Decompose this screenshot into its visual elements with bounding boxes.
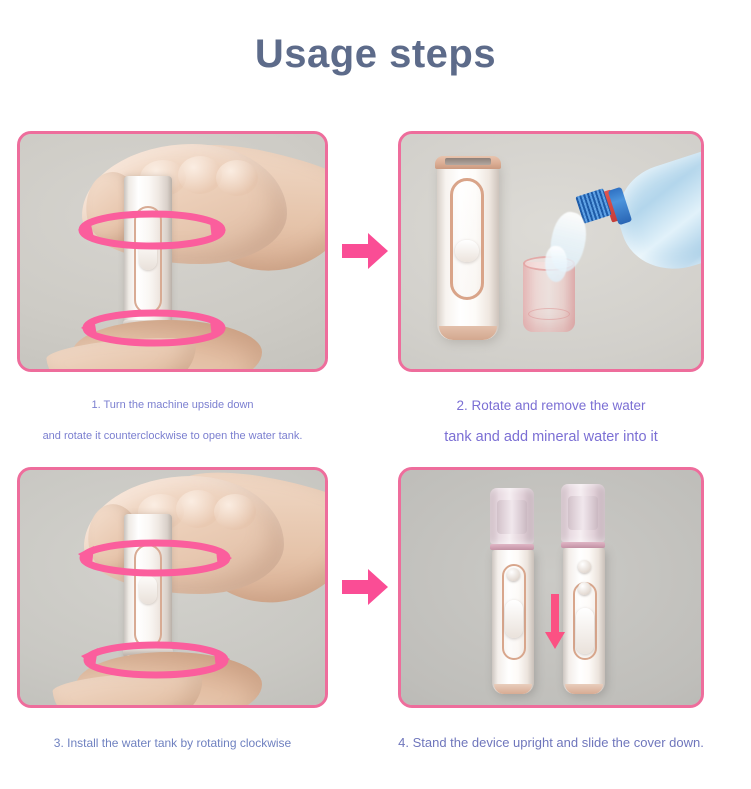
- step-2-caption-line2: tank and add mineral water into it: [398, 429, 704, 445]
- rotation-arrow-top: [72, 206, 232, 252]
- device-oval-knob: [455, 240, 479, 262]
- step-4-photo: [401, 470, 701, 705]
- device-button: [578, 560, 591, 573]
- rotation-arrow-top: [72, 534, 238, 580]
- device-slider-knob: [505, 600, 523, 638]
- step-3-panel: [17, 467, 328, 708]
- device-cap-inner: [568, 496, 598, 530]
- device-base: [565, 684, 603, 694]
- knuckle: [214, 494, 256, 530]
- step-1-panel: [17, 131, 328, 372]
- step-1-caption-line2: and rotate it counterclockwise to open t…: [7, 430, 338, 442]
- step-3-caption-line1: 3. Install the water tank by rotating cl…: [17, 736, 328, 750]
- water-tank-cup-inner-rim: [528, 308, 570, 320]
- step-3-photo: [20, 470, 325, 705]
- rotation-arrow-bottom: [76, 304, 232, 350]
- rotation-arrow-bottom: [76, 636, 236, 682]
- page-title: Usage steps: [0, 32, 751, 77]
- step-arrow-right-row1: [340, 228, 390, 274]
- step-2-panel: [398, 131, 704, 372]
- device-cap-inner: [497, 500, 527, 534]
- device-top-opening: [445, 158, 491, 165]
- device-base: [439, 326, 497, 340]
- step-arrow-right-row2: [340, 564, 390, 610]
- step-1-photo: [20, 134, 325, 369]
- step-2-photo: [401, 134, 701, 369]
- step-4-caption-line1: 4. Stand the device upright and slide th…: [398, 735, 704, 750]
- usage-steps-page: Usage steps: [0, 0, 751, 789]
- knuckle: [216, 160, 258, 196]
- device-slot-knob: [139, 576, 157, 604]
- step-1-caption-line1: 1. Turn the machine upside down: [17, 399, 328, 411]
- device-button-secondary: [578, 582, 591, 595]
- step-2-caption-line1: 2. Rotate and remove the water: [398, 398, 704, 413]
- step-4-panel: [398, 467, 704, 708]
- device-oval-window: [450, 178, 484, 300]
- device-button: [507, 568, 520, 581]
- photo-backdrop: [401, 470, 701, 705]
- device-slider-knob: [576, 608, 594, 654]
- device-base: [494, 684, 532, 694]
- slide-down-arrow: [544, 594, 566, 650]
